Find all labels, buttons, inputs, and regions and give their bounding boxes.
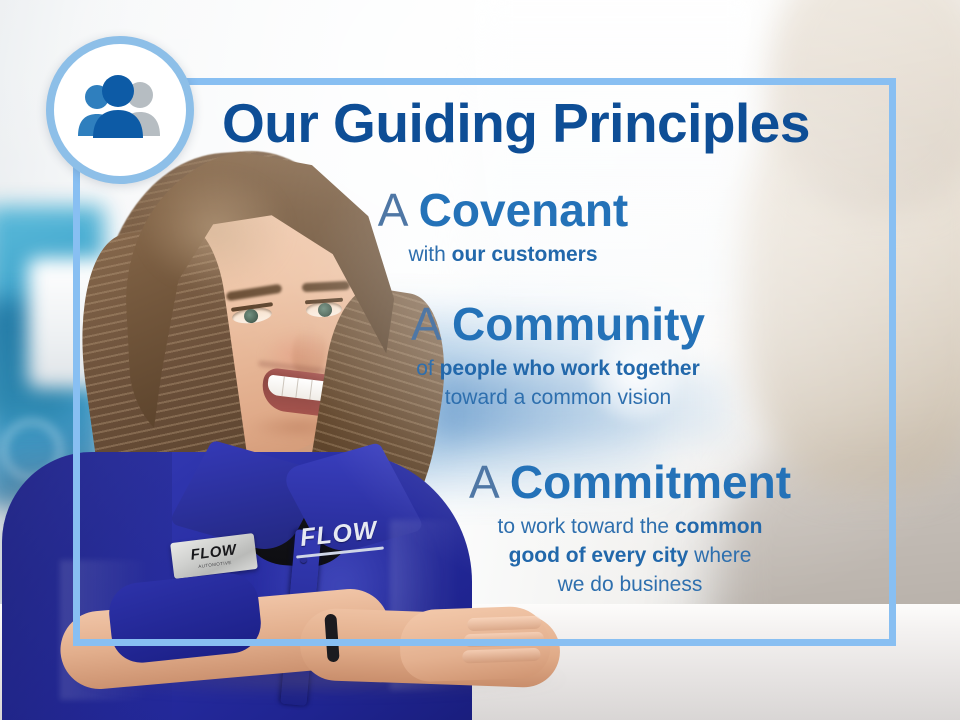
detail-lead: of [416, 357, 439, 380]
detail-lead: to work toward the [498, 515, 675, 538]
text-layer: Our Guiding Principles A Covenant with o… [0, 0, 960, 720]
principle-word: Commitment [510, 456, 791, 508]
detail-line: to work toward the common [370, 513, 890, 542]
detail-tail: where [688, 544, 751, 567]
principle-headline: A Commitment [370, 458, 890, 507]
detail-bold: our customers [452, 243, 598, 266]
detail-line: toward a common vision [298, 384, 818, 413]
principle-detail: with our customers [268, 241, 738, 270]
detail-bold: good of every city [509, 544, 689, 567]
detail-bold: people who work together [440, 357, 700, 380]
principle-article: A [411, 298, 439, 350]
detail-bold: common [675, 515, 763, 538]
detail-lead: with [408, 243, 451, 266]
graphic-canvas: FLOW AUTOMOTIVE FLOW [0, 0, 960, 720]
principle-article: A [378, 184, 406, 236]
detail-line: we do business [370, 571, 890, 600]
principle-detail: to work toward the common good of every … [370, 513, 890, 600]
principle-headline: A Covenant [268, 186, 738, 235]
detail-line: good of every city where [370, 542, 890, 571]
principle-block-commitment: A Commitment to work toward the common g… [370, 458, 890, 600]
principle-article: A [469, 456, 497, 508]
detail-lead: we do business [558, 573, 703, 596]
detail-lead: toward a common vision [445, 386, 671, 409]
principle-block-covenant: A Covenant with our customers [268, 186, 738, 270]
detail-line: of people who work together [298, 355, 818, 384]
principle-word: Covenant [419, 184, 629, 236]
principle-word: Community [452, 298, 705, 350]
principle-block-community: A Community of people who work together … [298, 300, 818, 413]
principle-detail: of people who work together toward a com… [298, 355, 818, 413]
principle-headline: A Community [298, 300, 818, 349]
page-title: Our Guiding Principles [222, 96, 862, 151]
